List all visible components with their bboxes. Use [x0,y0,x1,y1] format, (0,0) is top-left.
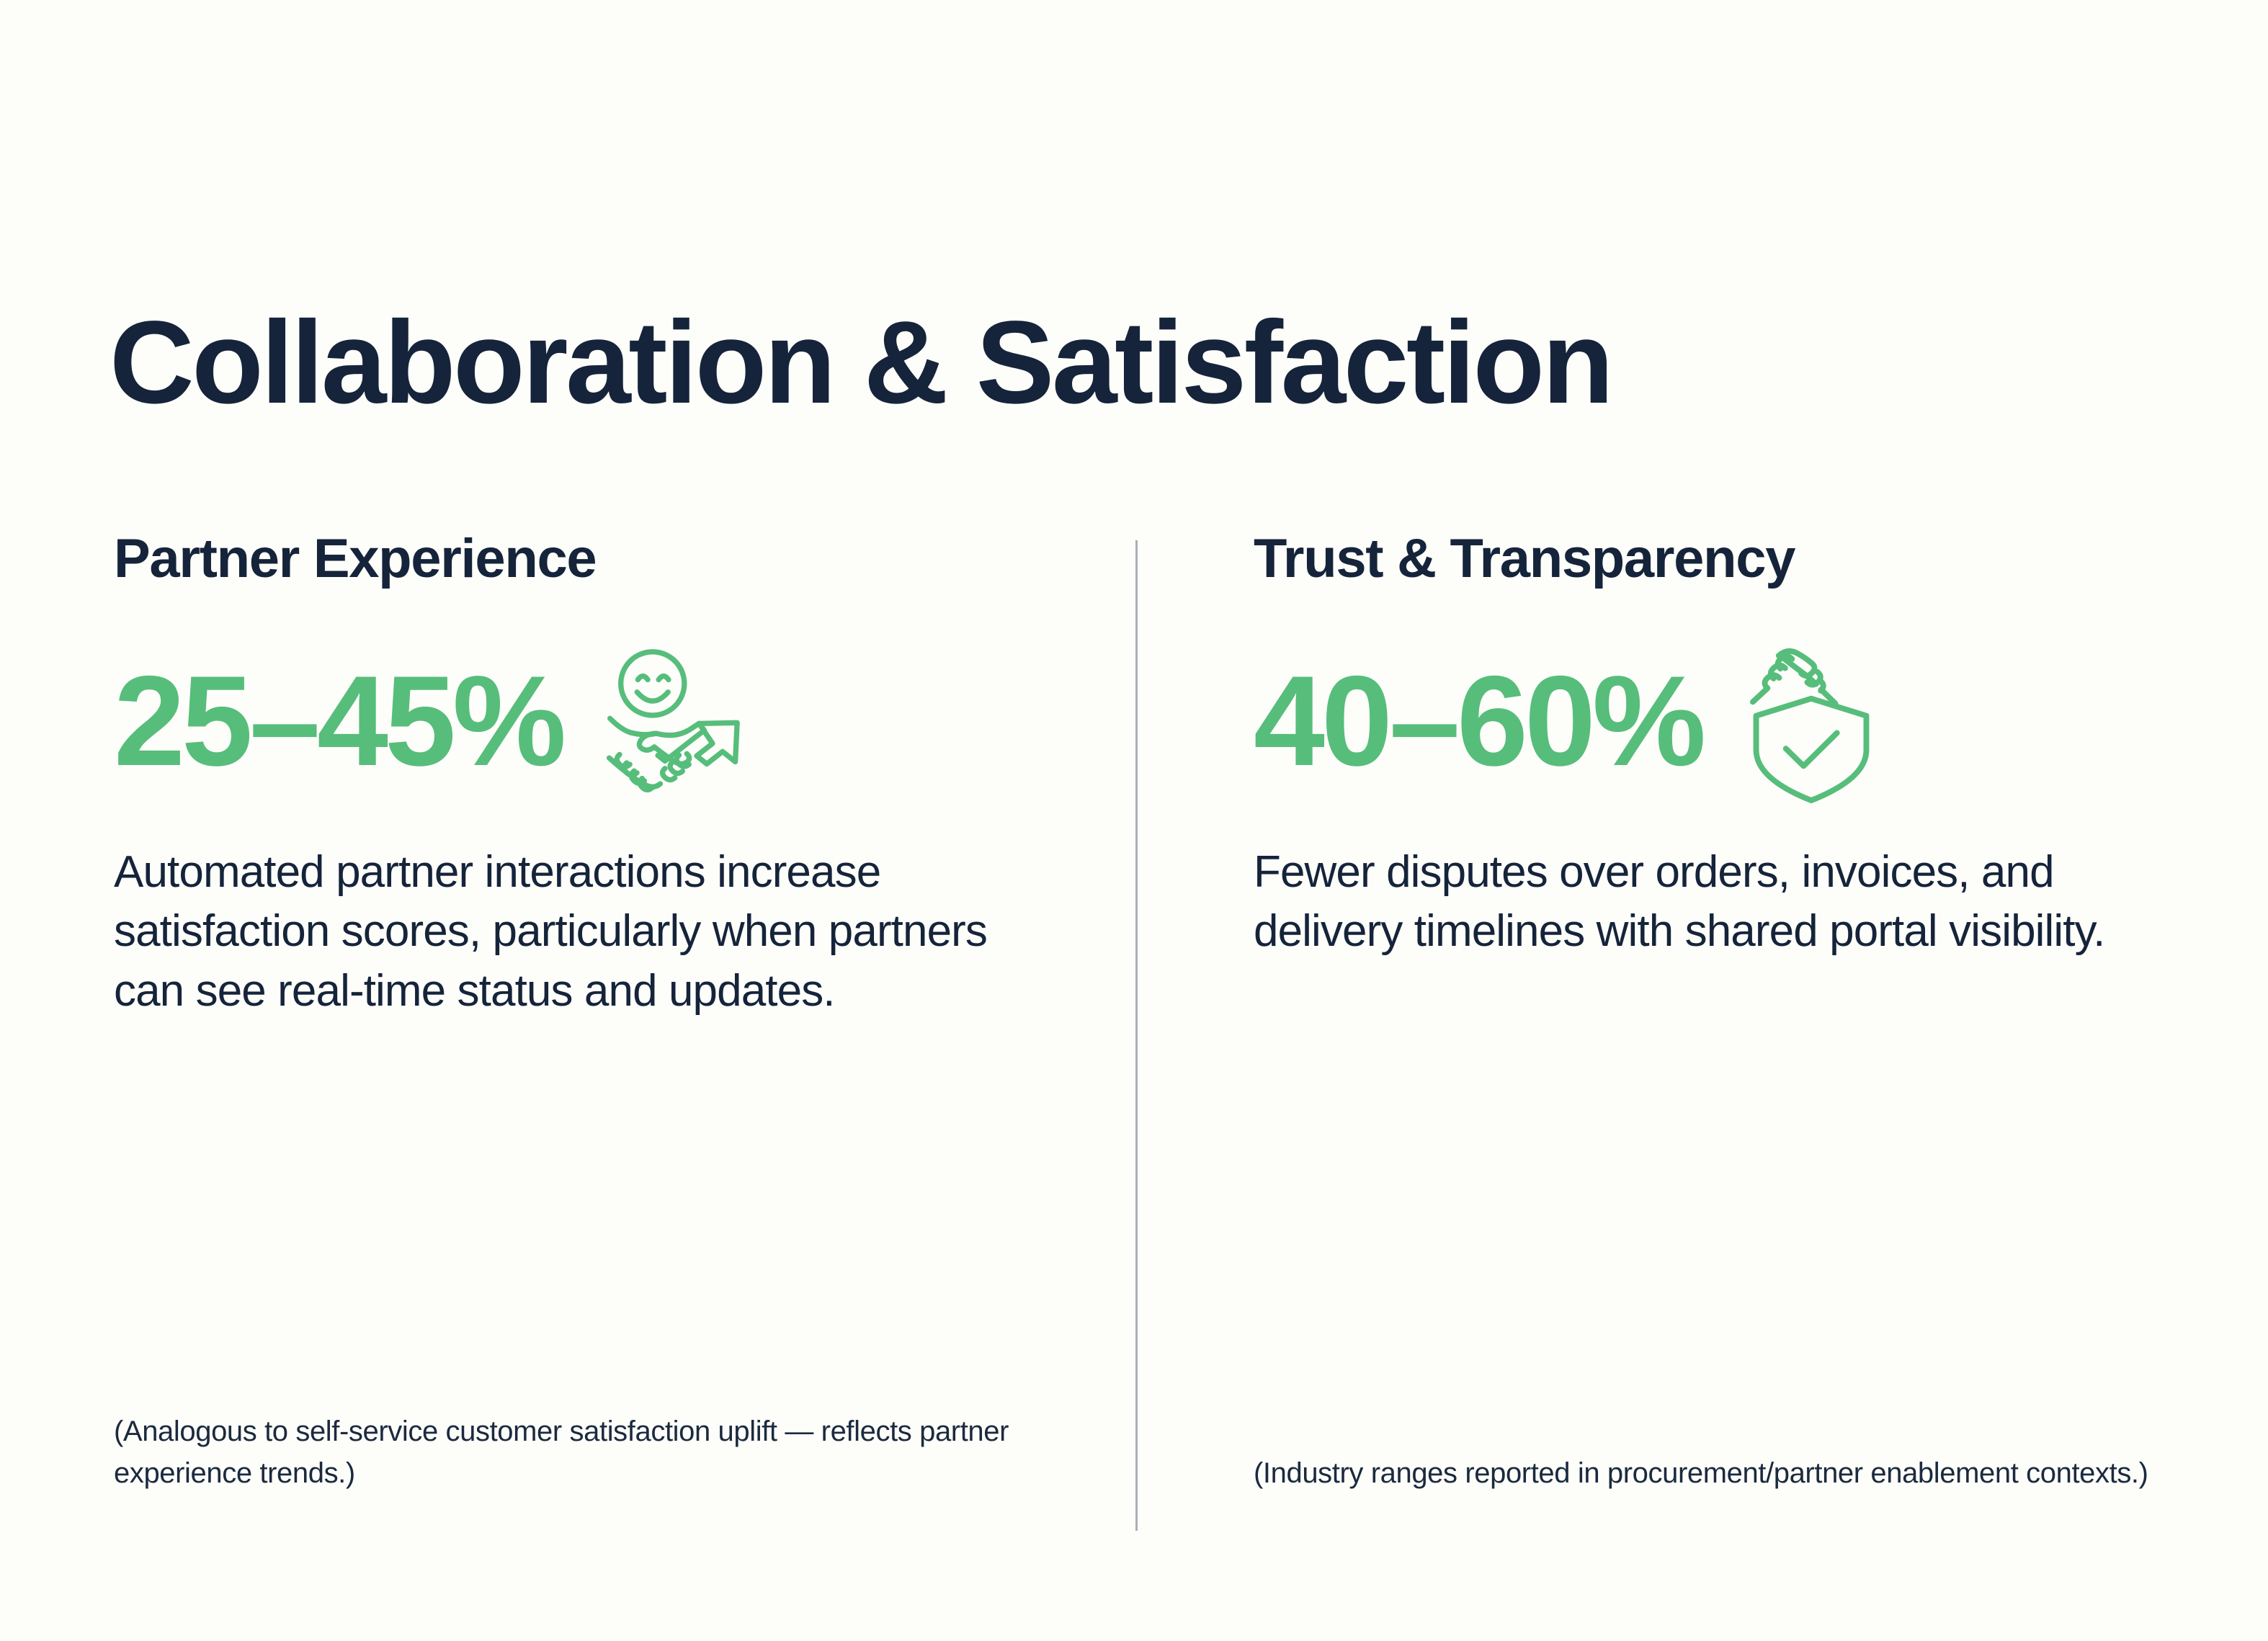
column-trust-transparency: Trust & Transparency 40–60% [1254,530,2212,1553]
column-heading: Trust & Transparency [1254,530,2212,588]
handshake-shield-check-icon [1743,638,1880,805]
slide-canvas: Collaboration & Satisfaction Partner Exp… [0,0,2268,1641]
stat-row: 25–45% [114,631,1072,811]
column-footnote: (Analogous to self-service customer sati… [114,1410,1072,1494]
column-heading: Partner Experience [114,530,1072,588]
column-partner-experience: Partner Experience 25–45% [114,530,1072,1553]
smiley-handshake-growth-icon [593,640,748,802]
page-title: Collaboration & Satisfaction [110,303,1612,421]
stat-value: 40–60% [1254,657,1702,785]
stat-row: 40–60% [1254,631,2212,811]
column-description: Fewer disputes over orders, invoices, an… [1254,843,2205,962]
stat-value: 25–45% [114,657,563,785]
column-description: Automated partner interactions increase … [114,843,1065,1021]
column-divider [1135,540,1138,1531]
columns-container: Partner Experience 25–45% [0,530,2268,1553]
column-footnote: (Industry ranges reported in procurement… [1254,1452,2148,1494]
